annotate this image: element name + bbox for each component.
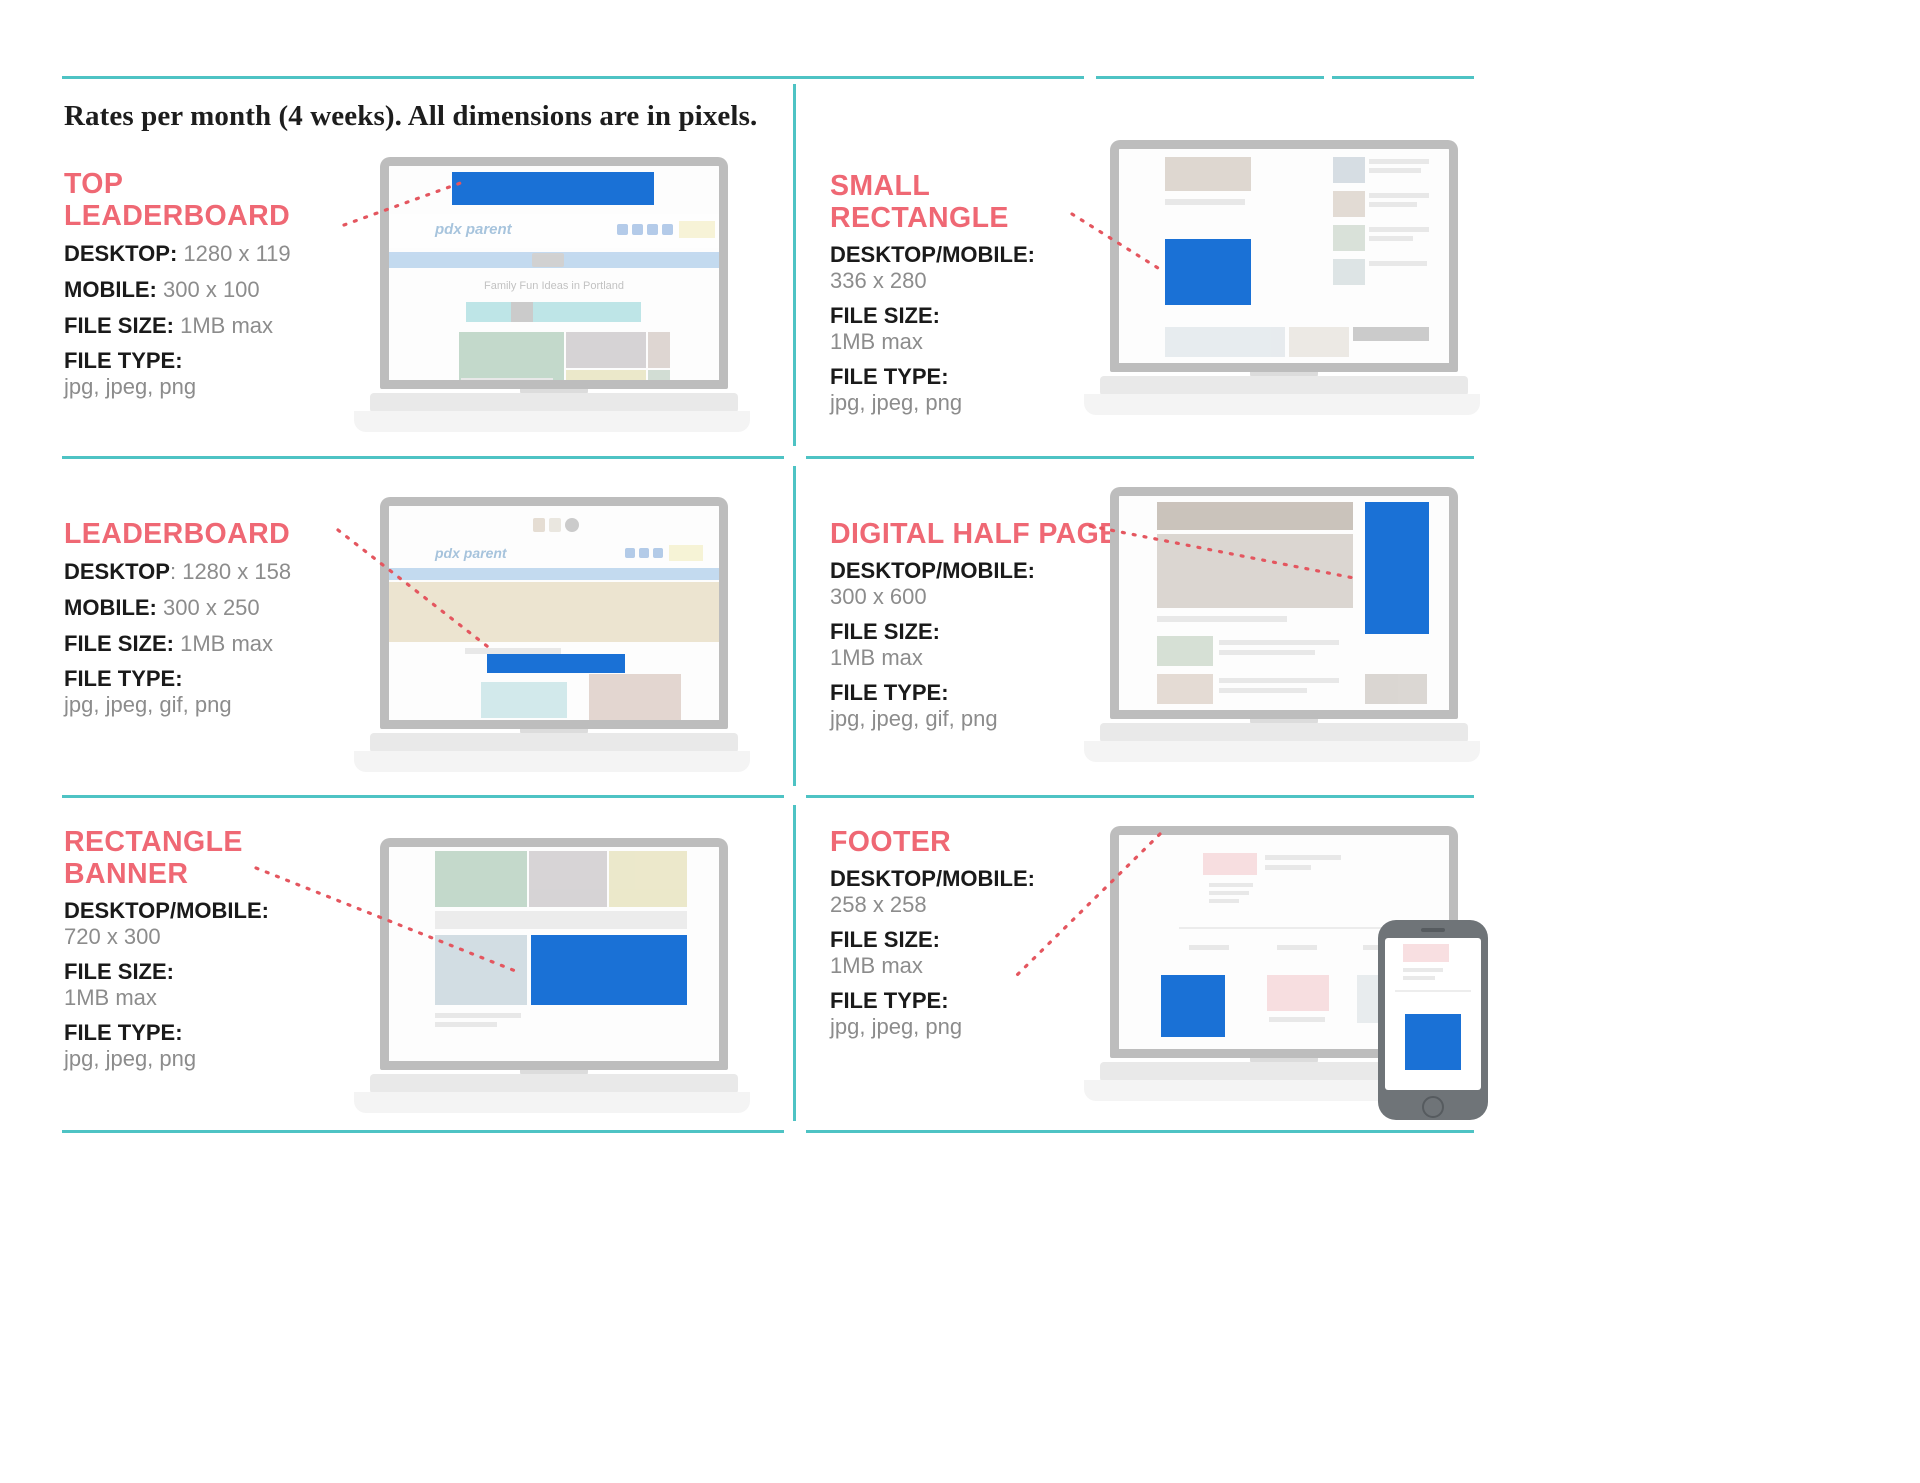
spec-label-mobile: MOBILE: xyxy=(64,595,157,620)
spec-value-desktop: 1280 x 119 xyxy=(183,241,290,266)
site-article-caption-2 xyxy=(435,1022,497,1027)
spec-value-file-size: 1MB max xyxy=(830,953,923,978)
specs-list-leaderboard: DESKTOP: 1280 x 158 MOBILE: 300 x 250 FI… xyxy=(64,558,364,718)
ad-placement-footer xyxy=(1161,975,1225,1037)
specs-list-small-rectangle: DESKTOP/MOBILE: 336 x 280 FILE SIZE: 1MB… xyxy=(830,242,1110,416)
divider-top-right-b xyxy=(1332,76,1474,79)
pointer-arrow-footer xyxy=(1012,832,1162,980)
spec-label-file-type: FILE TYPE: xyxy=(64,348,364,374)
spec-value-file-size: 1MB max xyxy=(830,645,923,670)
site-social-icon-4 xyxy=(662,224,673,235)
site-article-image-3 xyxy=(566,370,646,380)
pointer-arrow-small-rectangle xyxy=(1070,212,1160,270)
spec-label-desktop-mobile: DESKTOP/MOBILE: xyxy=(830,242,1110,268)
site-sidebar-text-4 xyxy=(1369,202,1417,207)
site-article-heading xyxy=(1157,616,1287,622)
site-heading-line xyxy=(1165,199,1245,205)
phone-divider xyxy=(1395,990,1471,992)
spec-value-file-type: jpg, jpeg, gif, png xyxy=(64,692,232,717)
site-article-image-1 xyxy=(459,332,564,380)
site-article-image-5 xyxy=(648,370,670,380)
spec-value-file-size: 1MB max xyxy=(180,313,273,338)
pointer-arrow-rectangle-banner xyxy=(254,866,522,976)
site-article-caption-1 xyxy=(461,378,553,380)
specs-list-top-leaderboard: DESKTOP: 1280 x 119 MOBILE: 300 x 100 FI… xyxy=(64,240,364,400)
phone-home-button-icon xyxy=(1422,1096,1444,1118)
site-social-icon-2 xyxy=(632,224,643,235)
spec-desktop-mobile: DESKTOP/MOBILE: 300 x 600 xyxy=(830,558,1130,610)
divider-vertical-row3 xyxy=(793,805,796,1121)
spec-desktop-mobile: DESKTOP/MOBILE: 336 x 280 xyxy=(830,242,1110,294)
phone-footer-ad xyxy=(1403,944,1449,962)
panel-title-line2: RECTANGLE xyxy=(830,202,1009,234)
spec-label-file-size: FILE SIZE: xyxy=(830,303,1110,329)
spec-label-file-size: FILE SIZE: xyxy=(64,631,174,656)
spec-value-file-size: 1MB max xyxy=(830,329,923,354)
spec-label-mobile: MOBILE: xyxy=(64,277,157,302)
panel-top-leaderboard: TOP LEADERBOARD DESKTOP: 1280 x 119 MOBI… xyxy=(64,168,364,409)
site-top-icon-2 xyxy=(549,518,561,532)
spec-label-file-type: FILE TYPE: xyxy=(830,680,1130,706)
panel-digital-half-page: DIGITAL HALF PAGE DESKTOP/MOBILE: 300 x … xyxy=(830,518,1130,741)
site-article-text-1 xyxy=(1219,640,1339,645)
site-article-text-2 xyxy=(1219,650,1315,655)
panel-title-line2: BANNER xyxy=(64,858,188,890)
ad-placement-leaderboard xyxy=(487,654,625,673)
site-article-thumb-1 xyxy=(1157,636,1213,666)
spec-desktop: DESKTOP: 1280 x 158 xyxy=(64,558,364,585)
site-article-thumb-2 xyxy=(1157,674,1213,704)
site-search-box xyxy=(669,545,703,561)
spec-label-file-size: FILE SIZE: xyxy=(830,619,1130,645)
spec-file-size: FILE SIZE: 1MB max xyxy=(64,312,364,339)
spec-label-desktop: DESKTOP xyxy=(64,559,170,584)
site-sidebar-text-6 xyxy=(1369,236,1413,241)
pointer-arrow-digital-half-page xyxy=(1088,524,1358,582)
panel-title-leaderboard: LEADERBOARD xyxy=(64,518,364,550)
site-nav-active-item xyxy=(532,253,564,267)
site-footer-link-1 xyxy=(1189,945,1229,950)
site-social-icon-1 xyxy=(617,224,628,235)
site-footer-text-1 xyxy=(1265,855,1341,860)
spec-value-file-size: 1MB max xyxy=(64,985,157,1010)
site-page-title: Family Fun Ideas in Portland xyxy=(389,280,719,292)
site-article-image-4 xyxy=(648,332,670,368)
site-footer-badge xyxy=(1353,327,1429,341)
site-sidebar-image-4 xyxy=(1333,259,1365,285)
laptop-base-front xyxy=(354,1092,750,1113)
site-sidebar-text-3 xyxy=(1369,193,1429,198)
panel-title-line1: SMALL xyxy=(830,170,930,202)
spec-label-file-type: FILE TYPE: xyxy=(64,1020,364,1046)
spec-desktop: DESKTOP: 1280 x 119 xyxy=(64,240,364,267)
site-sidebar-text-1 xyxy=(1369,159,1429,164)
site-sidebar-image-2 xyxy=(1333,191,1365,217)
laptop-base-front xyxy=(1084,741,1480,762)
phone-text-2 xyxy=(1403,976,1435,980)
site-sidebar-text-7 xyxy=(1369,261,1427,266)
divider-top-left xyxy=(62,76,1084,79)
spec-value-desktop-mobile: 258 x 258 xyxy=(830,892,927,917)
ad-placement-digital-half-page xyxy=(1365,502,1429,634)
spec-file-type: FILE TYPE: jpg, jpeg, png xyxy=(64,348,364,400)
divider-row1-right xyxy=(806,456,1474,459)
spec-label-file-type: FILE TYPE: xyxy=(830,364,1110,390)
spec-label-desktop: DESKTOP: xyxy=(64,241,177,266)
site-photo-right xyxy=(589,674,681,720)
phone-text-1 xyxy=(1403,968,1443,972)
phone-screen xyxy=(1385,938,1481,1090)
spec-file-size: FILE SIZE: 1MB max xyxy=(64,630,364,657)
panel-title-top-leaderboard: TOP LEADERBOARD xyxy=(64,168,364,232)
site-hero-image xyxy=(1165,157,1251,191)
phone-speaker-icon xyxy=(1421,928,1445,932)
ad-placement-footer-mobile xyxy=(1405,1014,1461,1070)
site-footer-image-1 xyxy=(1165,327,1285,357)
spec-value-desktop-mobile: 336 x 280 xyxy=(830,268,927,293)
spec-label-desktop-mobile: DESKTOP/MOBILE: xyxy=(830,558,1130,584)
site-social-icon-3 xyxy=(653,548,663,558)
spec-value-mobile: 300 x 100 xyxy=(163,277,260,302)
spec-value-file-type: jpg, jpeg, png xyxy=(830,390,962,415)
site-sidebar-text-5 xyxy=(1369,227,1429,232)
spec-value-file-size: 1MB max xyxy=(180,631,273,656)
site-promo-badge xyxy=(511,302,533,322)
spec-value-desktop-mobile: 720 x 300 xyxy=(64,924,161,949)
page-intro-heading: Rates per month (4 weeks). All dimension… xyxy=(64,100,757,133)
site-social-icon-3 xyxy=(647,224,658,235)
spec-value-file-type: jpg, jpeg, png xyxy=(64,1046,196,1071)
site-article-image-3 xyxy=(609,851,687,907)
site-footer-link-2 xyxy=(1277,945,1317,950)
site-article-thumb-3 xyxy=(1365,674,1427,704)
laptop-base xyxy=(370,393,738,413)
spec-label-file-type: FILE TYPE: xyxy=(830,988,1130,1014)
laptop-base xyxy=(370,733,738,753)
spec-value-file-type: jpg, jpeg, png xyxy=(830,1014,962,1039)
panel-title-digital-half-page: DIGITAL HALF PAGE xyxy=(830,518,1130,550)
site-search-box xyxy=(679,221,715,238)
spec-file-type: FILE TYPE: jpg, jpeg, gif, png xyxy=(64,666,364,718)
spec-label-file-size: FILE SIZE: xyxy=(64,313,174,338)
site-social-icon-2 xyxy=(639,548,649,558)
site-footer-text-3 xyxy=(1209,883,1253,887)
pointer-arrow-leaderboard xyxy=(336,528,496,653)
site-top-icon-1 xyxy=(533,518,545,532)
spec-value-file-type: jpg, jpeg, gif, png xyxy=(830,706,998,731)
spec-mobile: MOBILE: 300 x 250 xyxy=(64,594,364,621)
laptop-base xyxy=(1100,723,1468,743)
site-sidebar-image-1 xyxy=(1333,157,1365,183)
pointer-arrow-top-leaderboard xyxy=(340,178,470,228)
site-footer-image-2 xyxy=(1289,327,1349,357)
site-footer-rule xyxy=(1179,927,1409,929)
panel-title-line1: RECTANGLE xyxy=(64,826,243,858)
laptop-base-front xyxy=(354,751,750,772)
panel-small-rectangle: SMALL RECTANGLE DESKTOP/MOBILE: 336 x 28… xyxy=(830,170,1110,425)
site-article-image-2 xyxy=(566,332,646,368)
laptop-base xyxy=(370,1074,738,1094)
spec-file-type: FILE TYPE: jpg, jpeg, png xyxy=(64,1020,364,1072)
divider-vertical-row2 xyxy=(793,466,796,786)
divider-vertical-row1 xyxy=(793,84,796,446)
ad-placement-rectangle-banner xyxy=(531,935,687,1005)
ad-specs-sheet: Rates per month (4 weeks). All dimension… xyxy=(0,0,1920,1483)
spec-file-size: FILE SIZE: 1MB max xyxy=(830,303,1110,355)
panel-title-line2: LEADERBOARD xyxy=(64,200,290,232)
divider-top-right-a xyxy=(1096,76,1324,79)
laptop-lid xyxy=(1110,487,1458,719)
site-footer-text-4 xyxy=(1209,891,1249,895)
site-sidebar-text-2 xyxy=(1369,168,1421,173)
spec-value-desktop: 1280 x 158 xyxy=(182,559,291,584)
divider-row2-left xyxy=(62,795,784,798)
site-promo-band xyxy=(466,302,641,322)
site-footer-text-5 xyxy=(1209,899,1239,903)
laptop-base-front xyxy=(354,411,750,432)
site-footer-text-6 xyxy=(1269,1017,1325,1022)
site-logo-block xyxy=(481,682,567,718)
site-top-icon-3 xyxy=(565,518,579,532)
divider-bottom-left xyxy=(62,1130,784,1133)
divider-row1-left xyxy=(62,456,784,459)
site-article-text-4 xyxy=(1219,688,1307,693)
spec-value-file-type: jpg, jpeg, png xyxy=(64,374,196,399)
panel-title-line1: FOOTER xyxy=(830,826,951,858)
site-footer-ad-2 xyxy=(1267,975,1329,1011)
site-article-caption-1 xyxy=(435,1013,521,1018)
divider-row2-right xyxy=(806,795,1474,798)
spec-label-file-type: FILE TYPE: xyxy=(64,666,364,692)
laptop-base-front xyxy=(1084,394,1480,415)
panel-title-line1: DIGITAL HALF PAGE xyxy=(830,518,1119,550)
panel-title-line1: LEADERBOARD xyxy=(64,518,290,550)
spec-value-desktop-mobile: 300 x 600 xyxy=(830,584,927,609)
site-social-icon-1 xyxy=(625,548,635,558)
panel-title-small-rectangle: SMALL RECTANGLE xyxy=(830,170,1110,234)
spec-value-mobile: 300 x 250 xyxy=(163,595,260,620)
spec-file-size: FILE SIZE: 1MB max xyxy=(830,619,1130,671)
spec-file-type: FILE TYPE: jpg, jpeg, png xyxy=(830,988,1130,1040)
spec-desktop-colon: : xyxy=(170,559,176,584)
site-footer-text-2 xyxy=(1265,865,1311,870)
laptop-mockup-small-rectangle xyxy=(1100,140,1480,425)
site-sidebar-image-3 xyxy=(1333,225,1365,251)
spec-file-type: FILE TYPE: jpg, jpeg, gif, png xyxy=(830,680,1130,732)
laptop-base xyxy=(1100,376,1468,396)
site-footer-ad-1 xyxy=(1203,853,1257,875)
ad-placement-small-rectangle xyxy=(1165,239,1251,305)
site-article-image-2 xyxy=(529,851,607,907)
site-article-text-3 xyxy=(1219,678,1339,683)
specs-list-digital-half-page: DESKTOP/MOBILE: 300 x 600 FILE SIZE: 1MB… xyxy=(830,558,1130,732)
laptop-lid xyxy=(1110,140,1458,372)
ad-placement-top-leaderboard xyxy=(452,172,654,205)
panel-title-line1: TOP xyxy=(64,168,123,200)
spec-file-type: FILE TYPE: jpg, jpeg, png xyxy=(830,364,1110,416)
spec-mobile: MOBILE: 300 x 100 xyxy=(64,276,364,303)
divider-bottom-right xyxy=(806,1130,1474,1133)
panel-leaderboard: LEADERBOARD DESKTOP: 1280 x 158 MOBILE: … xyxy=(64,518,364,727)
laptop-screen xyxy=(1119,149,1449,363)
phone-mockup-footer xyxy=(1378,920,1488,1120)
